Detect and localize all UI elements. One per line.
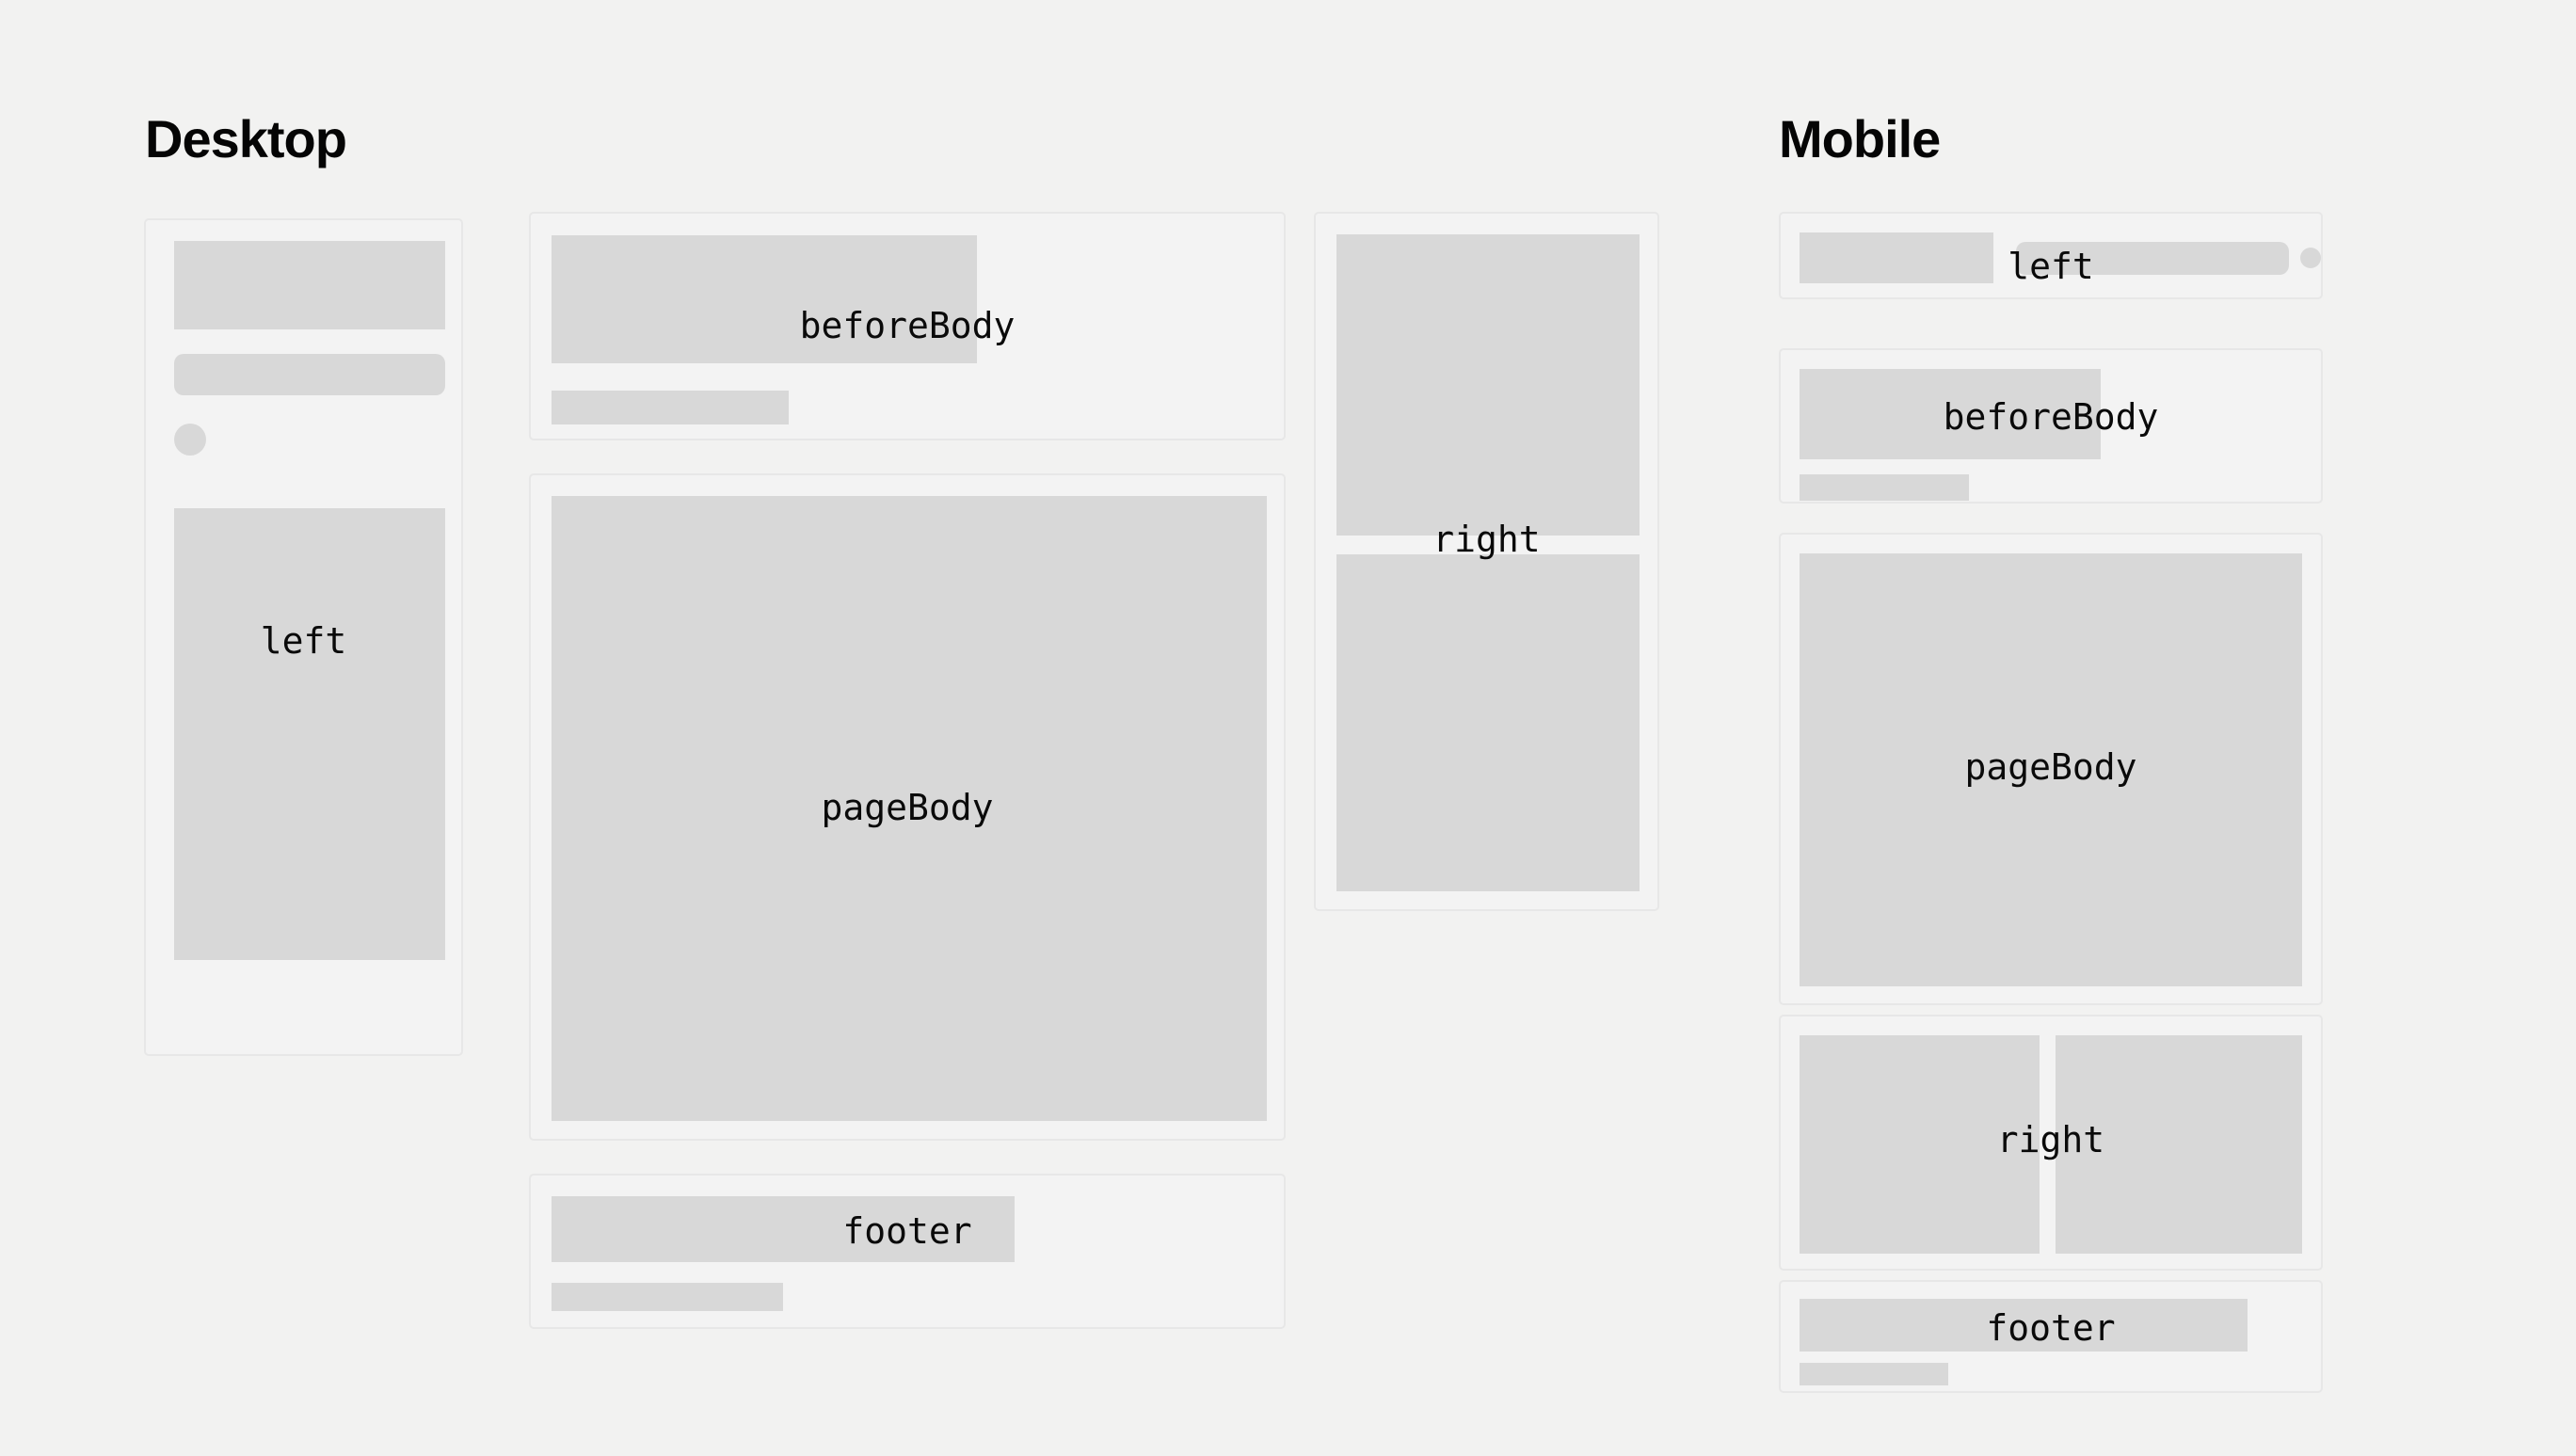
mobile-slot-right[interactable]: right [1779, 1015, 2323, 1271]
skeleton-block [174, 508, 445, 960]
desktop-slot-page-body[interactable]: pageBody [529, 473, 1286, 1141]
mobile-slot-footer[interactable]: footer [1779, 1280, 2323, 1393]
skeleton-block [174, 354, 445, 395]
desktop-slot-right[interactable]: right [1314, 212, 1659, 911]
skeleton-block [2016, 242, 2289, 275]
skeleton-block [174, 241, 445, 329]
skeleton-block [1800, 369, 2101, 459]
skeleton-block [552, 391, 789, 424]
skeleton-block [1800, 1299, 2248, 1352]
page-title-mobile: Mobile [1779, 113, 1940, 166]
skeleton-block [552, 1283, 783, 1311]
skeleton-block [552, 1196, 1015, 1262]
mobile-slot-left[interactable]: left [1779, 212, 2323, 299]
skeleton-block [552, 235, 977, 363]
skeleton-avatar-circle [2300, 248, 2321, 268]
skeleton-block [1800, 1363, 1948, 1385]
skeleton-avatar-circle [174, 424, 206, 456]
skeleton-block [1800, 232, 1993, 283]
desktop-slot-before-body[interactable]: beforeBody [529, 212, 1286, 440]
desktop-slot-left[interactable]: left [144, 218, 463, 1056]
page-title-desktop: Desktop [145, 113, 346, 166]
skeleton-block [1336, 234, 1640, 536]
skeleton-block [2056, 1035, 2302, 1254]
skeleton-block [1800, 553, 2302, 986]
mobile-slot-page-body[interactable]: pageBody [1779, 533, 2323, 1005]
layout-preview-page: { "page": { "background_color": "#f2f2f1… [0, 0, 2576, 1456]
desktop-slot-footer[interactable]: footer [529, 1174, 1286, 1329]
mobile-slot-before-body[interactable]: beforeBody [1779, 348, 2323, 504]
skeleton-block [552, 496, 1267, 1121]
skeleton-block [1800, 474, 1969, 501]
skeleton-block [1800, 1035, 2040, 1254]
skeleton-block [1336, 554, 1640, 891]
